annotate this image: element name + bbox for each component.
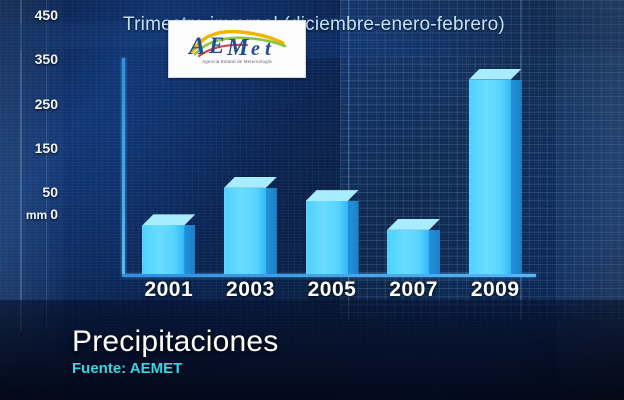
footer-source: Fuente: AEMET xyxy=(72,360,592,377)
bar-top-face xyxy=(142,214,195,225)
bar-top-face xyxy=(306,190,359,201)
y-axis-line xyxy=(122,58,125,274)
bar-top-face xyxy=(387,219,440,230)
svg-text:E: E xyxy=(208,33,224,58)
y-axis-unit-label: mm xyxy=(26,208,47,222)
svg-text:M: M xyxy=(226,35,250,61)
bar-front-face xyxy=(142,225,185,274)
y-axis-tick-label: 450 xyxy=(35,7,58,23)
bar-side-face xyxy=(184,225,195,274)
bar-2009 xyxy=(469,69,522,274)
x-axis-tick-label: 2003 xyxy=(210,278,292,302)
x-axis-tick-label: 2005 xyxy=(291,278,373,302)
bar-2001 xyxy=(142,214,195,274)
bar-front-face xyxy=(224,188,267,274)
bar-front-face xyxy=(469,80,512,274)
bar-front-face xyxy=(306,201,349,274)
chart-title: Trimestre invernal (diciembre-enero-febr… xyxy=(64,14,564,36)
plot-area xyxy=(122,62,536,274)
bar-top-face xyxy=(224,177,277,188)
y-axis-tick-label: 50 xyxy=(42,184,58,200)
bar-front-face xyxy=(387,230,430,274)
aemet-logo-subtitle: Agencia Estatal de Meteorología xyxy=(169,59,305,64)
x-axis-tick-label: 2007 xyxy=(373,278,455,302)
y-axis-tick-label: 150 xyxy=(35,140,58,156)
x-axis-line xyxy=(122,274,536,277)
bar-side-face xyxy=(429,230,440,274)
aemet-logo-mark: A E M e t Agencia Estatal de Meteorologí… xyxy=(169,21,305,77)
x-axis-tick-label: 2001 xyxy=(128,278,210,302)
bar-top-face xyxy=(469,69,522,80)
bar-2003 xyxy=(224,177,277,274)
x-axis-labels: 20012003200520072009 xyxy=(122,278,536,306)
bar-side-face xyxy=(511,80,522,274)
aemet-logo: A E M e t Agencia Estatal de Meteorologí… xyxy=(168,20,306,78)
bar-2007 xyxy=(387,219,440,274)
bar-2005 xyxy=(306,190,359,274)
svg-text:e: e xyxy=(251,38,260,60)
bar-side-face xyxy=(266,188,277,274)
chart-panel: Trimestre invernal (diciembre-enero-febr… xyxy=(64,6,564,316)
y-axis-labels: 45035025015050mm0 xyxy=(6,2,58,214)
footer-title: Precipitaciones xyxy=(72,326,592,358)
svg-text:A: A xyxy=(187,33,206,60)
y-axis-tick-label: 250 xyxy=(35,96,58,112)
y-axis-tick-label: 350 xyxy=(35,51,58,67)
bar-side-face xyxy=(348,201,359,274)
screenshot-stage: Trimestre invernal (diciembre-enero-febr… xyxy=(0,0,624,400)
x-axis-tick-label: 2009 xyxy=(454,278,536,302)
bar-series xyxy=(128,62,536,274)
footer: Precipitaciones Fuente: AEMET xyxy=(72,326,592,377)
y-axis-tick-label: mm0 xyxy=(26,206,58,222)
